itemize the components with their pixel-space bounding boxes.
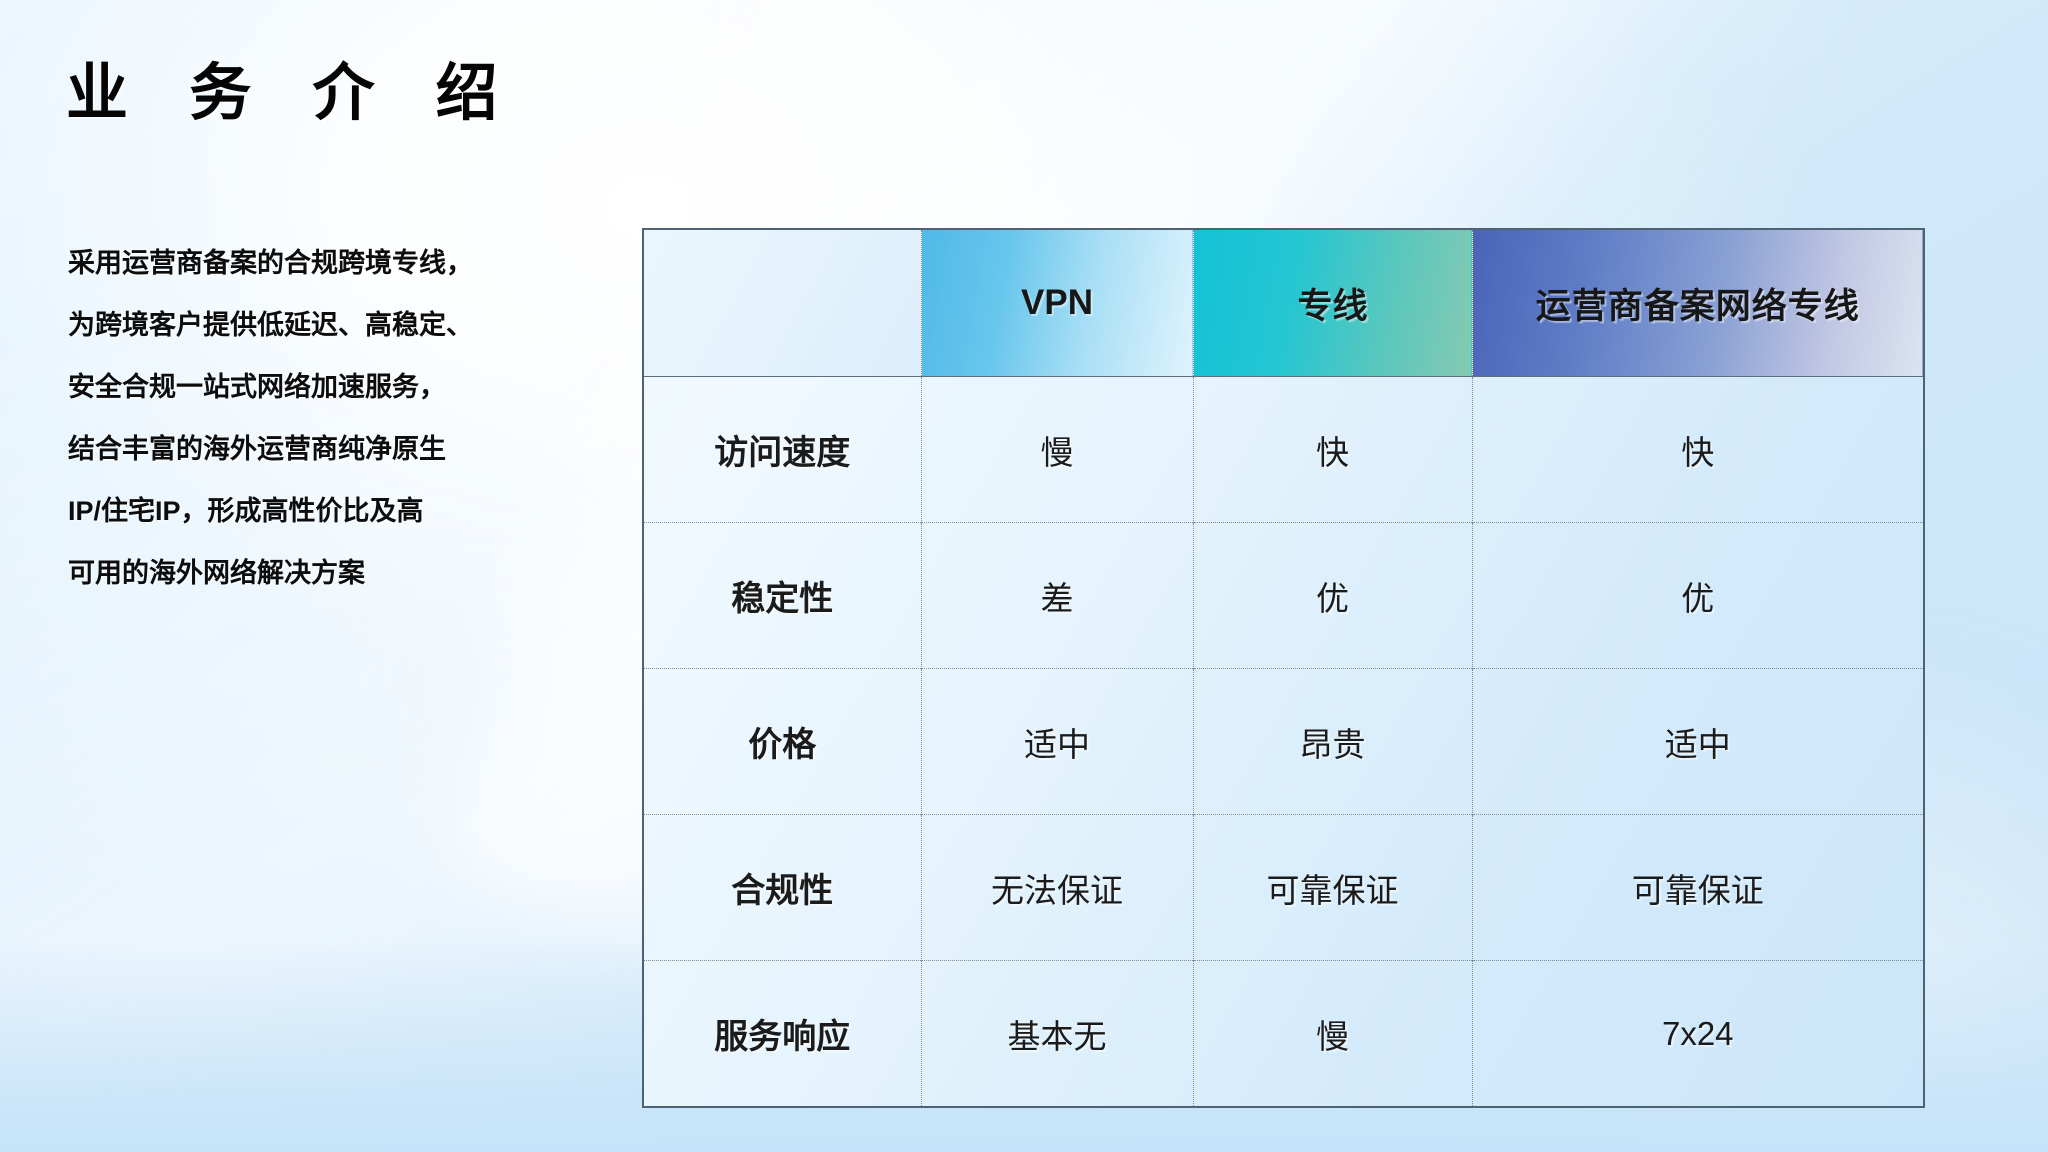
comparison-table: VPN 专线 运营商备案网络专线 访问速度 慢 快 快 bbox=[642, 228, 1925, 1108]
intro-line: IP/住宅IP，形成高性价比及高 bbox=[68, 480, 628, 542]
table-cell-operator-line: 可靠保证 bbox=[1472, 815, 1923, 961]
table-header: VPN 专线 运营商备案网络专线 bbox=[644, 230, 1923, 377]
slide-canvas: 业 务 介 绍 采用运营商备案的合规跨境专线， 为跨境客户提供低延迟、高稳定、 … bbox=[0, 0, 2048, 1152]
table-header-cell-blank bbox=[644, 230, 921, 377]
table-row-label: 访问速度 bbox=[644, 377, 921, 523]
table-header-cell-dedicated-line: 专线 bbox=[1193, 230, 1472, 377]
table-row: 价格 适中 昂贵 适中 bbox=[644, 669, 1923, 815]
table-row-label: 服务响应 bbox=[644, 961, 921, 1107]
table-cell-dedicated-line: 昂贵 bbox=[1193, 669, 1472, 815]
intro-line: 安全合规一站式网络加速服务， bbox=[68, 356, 628, 418]
table-cell-operator-line: 7x24 bbox=[1472, 961, 1923, 1107]
table-cell-operator-line: 适中 bbox=[1472, 669, 1923, 815]
table-header-row: VPN 专线 运营商备案网络专线 bbox=[644, 230, 1923, 377]
table-row: 合规性 无法保证 可靠保证 可靠保证 bbox=[644, 815, 1923, 961]
table-header-cell-operator-line: 运营商备案网络专线 bbox=[1472, 230, 1923, 377]
intro-line: 采用运营商备案的合规跨境专线， bbox=[68, 232, 628, 294]
table-cell-operator-line: 优 bbox=[1472, 523, 1923, 669]
table-cell-dedicated-line: 慢 bbox=[1193, 961, 1472, 1107]
table-row-label: 稳定性 bbox=[644, 523, 921, 669]
table-row: 稳定性 差 优 优 bbox=[644, 523, 1923, 669]
intro-line: 结合丰富的海外运营商纯净原生 bbox=[68, 418, 628, 480]
comparison-table-grid: VPN 专线 运营商备案网络专线 访问速度 慢 快 快 bbox=[644, 230, 1923, 1106]
page-title: 业 务 介 绍 bbox=[66, 58, 520, 129]
table-body: 访问速度 慢 快 快 稳定性 差 优 优 价格 适中 昂贵 适中 bbox=[644, 377, 1923, 1107]
intro-line: 可用的海外网络解决方案 bbox=[68, 542, 628, 604]
table-header-label: 运营商备案网络专线 bbox=[1536, 287, 1860, 326]
table-cell-vpn: 基本无 bbox=[921, 961, 1193, 1107]
table-row-label: 价格 bbox=[644, 669, 921, 815]
table-row-label: 合规性 bbox=[644, 815, 921, 961]
table-cell-operator-line: 快 bbox=[1472, 377, 1923, 523]
table-cell-dedicated-line: 优 bbox=[1193, 523, 1472, 669]
table-cell-vpn: 无法保证 bbox=[921, 815, 1193, 961]
table-cell-vpn: 差 bbox=[921, 523, 1193, 669]
table-row: 访问速度 慢 快 快 bbox=[644, 377, 1923, 523]
table-cell-dedicated-line: 可靠保证 bbox=[1193, 815, 1472, 961]
table-header-cell-vpn: VPN bbox=[921, 230, 1193, 377]
table-row: 服务响应 基本无 慢 7x24 bbox=[644, 961, 1923, 1107]
table-cell-vpn: 慢 bbox=[921, 377, 1193, 523]
intro-line: 为跨境客户提供低延迟、高稳定、 bbox=[68, 294, 628, 356]
table-cell-dedicated-line: 快 bbox=[1193, 377, 1472, 523]
table-header-label: VPN bbox=[1021, 283, 1093, 322]
intro-paragraph: 采用运营商备案的合规跨境专线， 为跨境客户提供低延迟、高稳定、 安全合规一站式网… bbox=[68, 232, 628, 604]
table-header-label: 专线 bbox=[1297, 287, 1367, 326]
table-cell-vpn: 适中 bbox=[921, 669, 1193, 815]
